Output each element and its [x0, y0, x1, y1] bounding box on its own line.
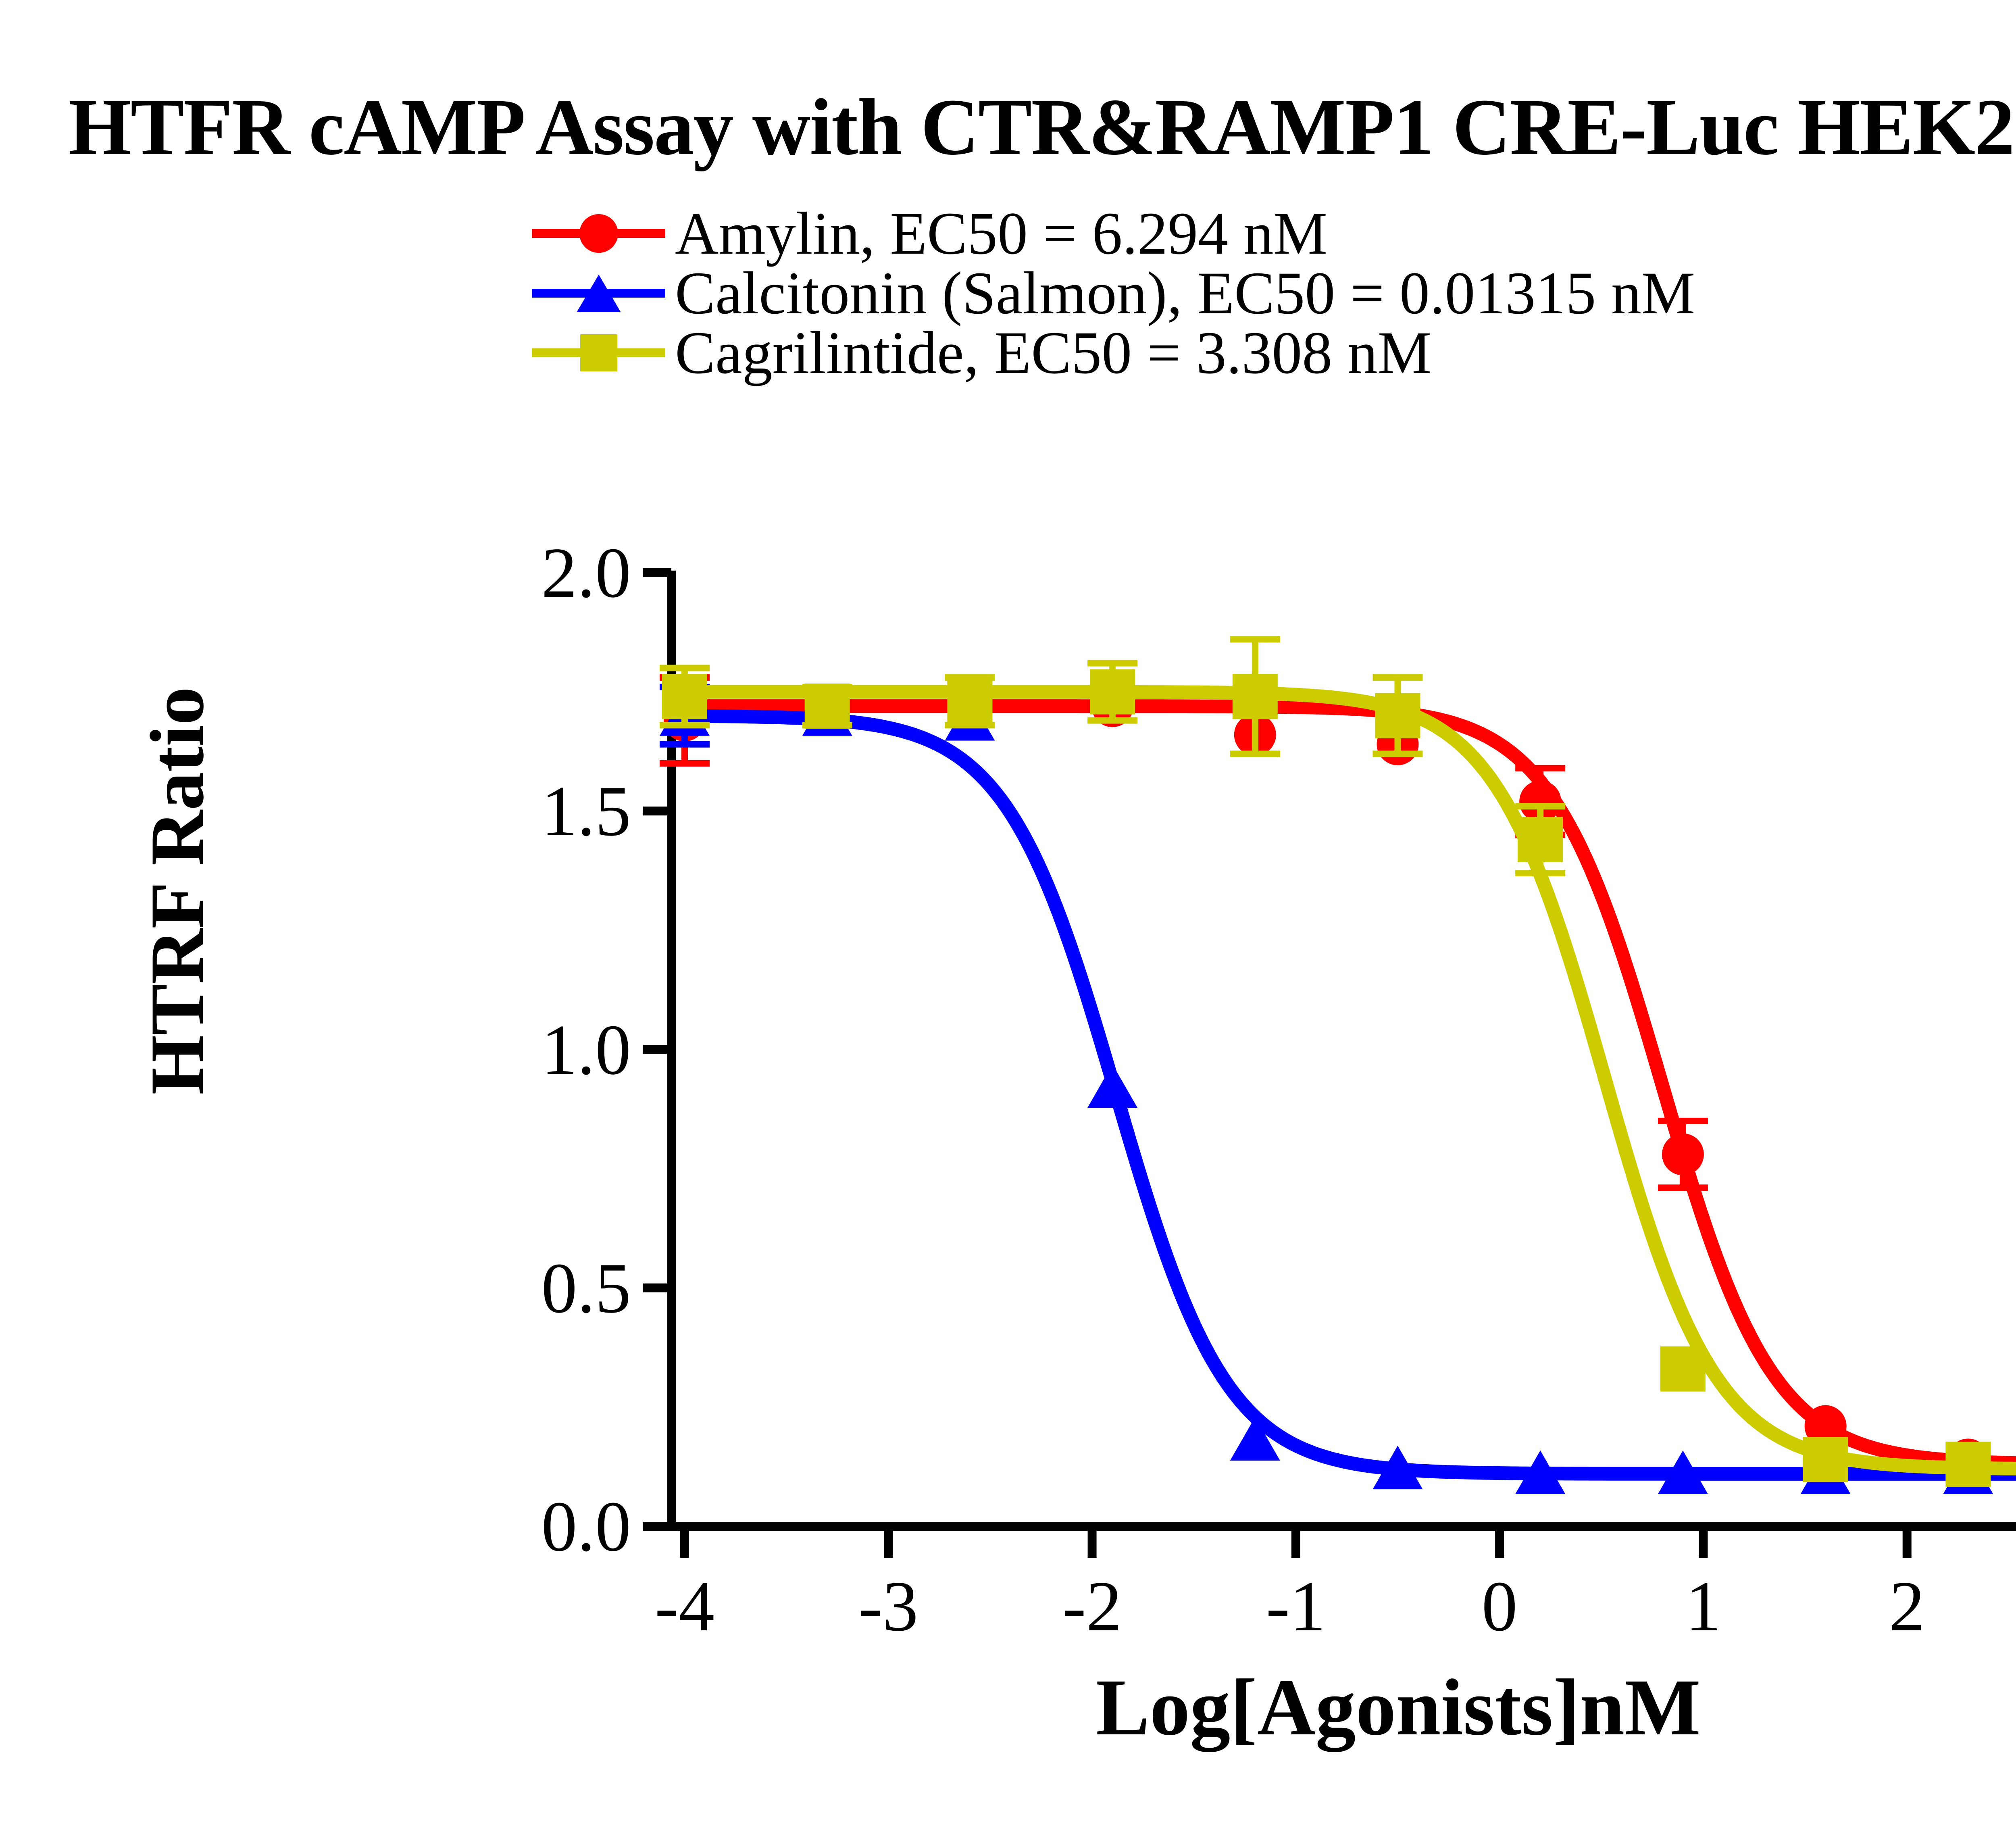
chart-svg	[0, 0, 2016, 1838]
series-amylin	[660, 677, 2016, 1485]
plot-area: HTRF Ratio Log[Agonists]nM 0.00.51.01.52…	[0, 0, 2016, 1838]
series-cagrilintide	[660, 640, 2016, 1492]
series-calcitonin-salmon-	[660, 687, 2016, 1494]
